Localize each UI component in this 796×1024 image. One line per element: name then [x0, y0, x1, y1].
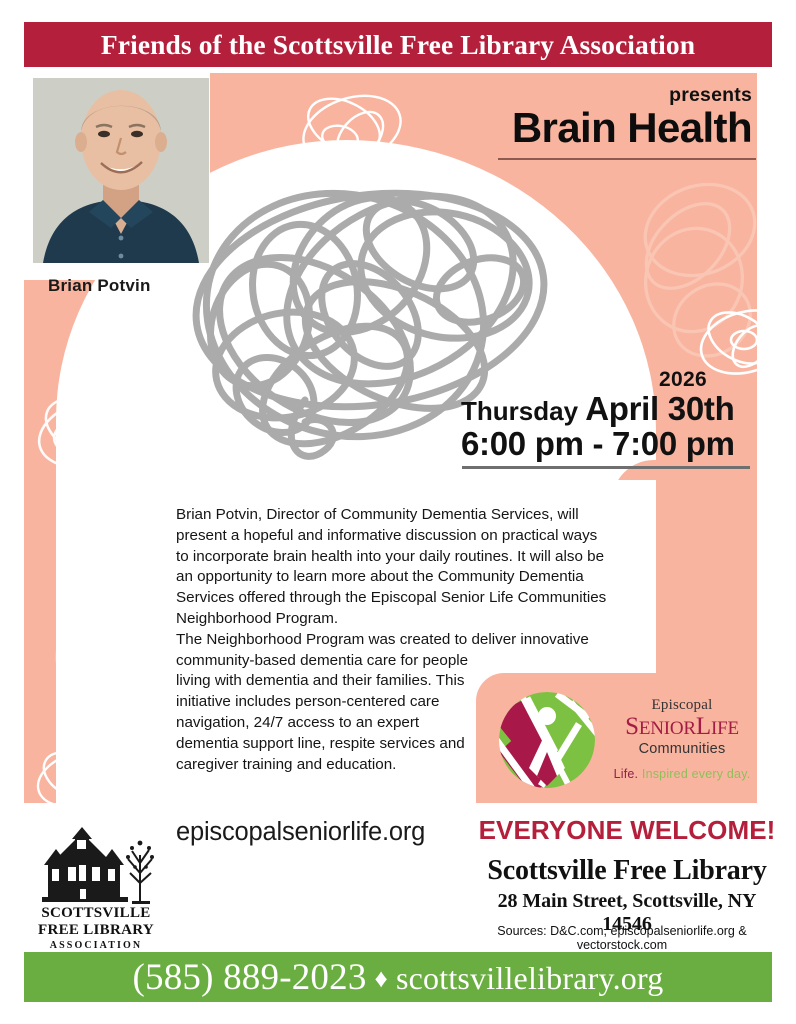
library-wordmark-line1: SCOTTSVILLE: [28, 905, 164, 922]
header-bar: Friends of the Scottsville Free Library …: [24, 22, 772, 67]
speaker-name: Brian Potvin: [48, 276, 151, 296]
esl-seniorlife-text: SENIORLIFE: [602, 714, 762, 740]
library-wordmark-line2: FREE LIBRARY: [28, 922, 164, 939]
esl-ife: IFE: [711, 718, 739, 739]
event-title: Brain Health: [512, 104, 752, 152]
episcopal-seniorlife-wordmark: Episcopal SENIORLIFE Communities Life. I…: [602, 697, 762, 781]
footer-bar: (585) 889-2023♦scottsvillelibrary.org: [24, 952, 772, 1002]
scottsville-library-house-icon: [36, 815, 156, 910]
speaker-photo: [33, 78, 209, 263]
everyone-welcome-banner: EVERYONE WELCOME!: [472, 815, 782, 846]
esl-l: L: [696, 713, 711, 740]
event-date: Thursday April 30th: [461, 390, 734, 428]
page-title: Friends of the Scottsville Free Library …: [101, 29, 695, 61]
poster-canvas: Friends of the Scottsville Free Library …: [0, 0, 796, 1024]
venue-name: Scottsville Free Library: [472, 855, 782, 887]
date-underline-rule: [462, 466, 750, 469]
footer-phone[interactable]: (585) 889-2023: [133, 957, 367, 998]
esl-episcopal-text: Episcopal: [602, 697, 762, 714]
event-time: 6:00 pm - 7:00 pm: [461, 425, 735, 463]
esl-tagline-life: Life.: [614, 767, 639, 781]
description-paragraph-1: Brian Potvin, Director of Community Deme…: [176, 505, 610, 630]
scottsville-library-wordmark: SCOTTSVILLE FREE LIBRARY ASSOCIATION: [28, 905, 164, 951]
esl-communities-text: Communities: [602, 741, 762, 757]
white-right-margin: [757, 73, 796, 803]
diamond-separator-icon: ♦: [375, 964, 388, 993]
footer-website[interactable]: scottsvillelibrary.org: [396, 960, 663, 996]
event-weekday: Thursday: [461, 396, 585, 426]
description-paragraph-3: community-based dementia care for people…: [176, 651, 476, 776]
title-underline-rule: [498, 158, 756, 160]
sources-note: Sources: D&C.com, episcopalseniorlife.or…: [452, 924, 792, 952]
esl-enior: ENIOR: [639, 718, 696, 739]
esl-s: S: [625, 713, 639, 740]
episcopal-seniorlife-logo-icon: [497, 690, 597, 790]
description-paragraph-2: The Neighborhood Program was created to …: [176, 630, 610, 651]
event-year: 2026: [659, 368, 707, 392]
footer-contact: (585) 889-2023♦scottsvillelibrary.org: [133, 956, 664, 999]
esl-tagline: Life. Inspired every day.: [602, 767, 762, 781]
esl-tagline-rest: Inspired every day.: [638, 767, 750, 781]
event-month-day: April 30th: [585, 390, 734, 427]
library-wordmark-line3: ASSOCIATION: [28, 940, 164, 951]
episcopalseniorlife-url[interactable]: episcopalseniorlife.org: [176, 818, 425, 847]
